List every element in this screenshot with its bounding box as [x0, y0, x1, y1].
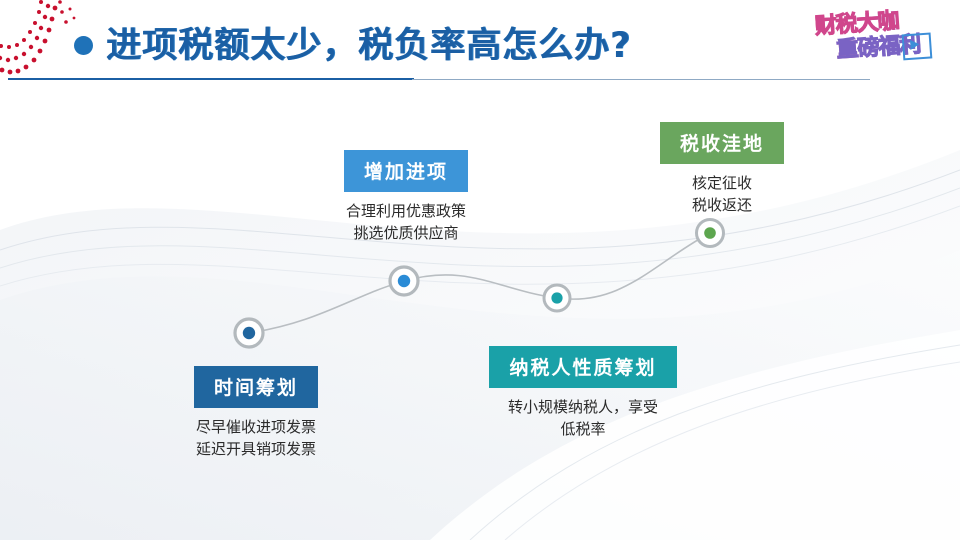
node-description-time-planning: 尽早催收进项发票 延迟开具销项发票 — [128, 417, 384, 461]
diagram-node-add-input[interactable]: 增加进项 合理利用优惠政策 挑选优质供应商 — [280, 150, 532, 245]
diagram-node-time-planning[interactable]: 时间筹划 尽早催收进项发票 延迟开具销项发票 — [128, 366, 384, 461]
node-marker-time-planning — [235, 319, 263, 347]
node-label-time-planning[interactable]: 时间筹划 — [194, 366, 318, 408]
node-description-add-input: 合理利用优惠政策 挑选优质供应商 — [280, 201, 532, 245]
node-description-tax-depression: 核定征收 税收返还 — [596, 173, 848, 217]
node-description-taxpayer-type: 转小规模纳税人，享受 低税率 — [448, 397, 718, 441]
slide-canvas: 进项税额太少，税负率高怎么办? 财税大咖 重磅福利 — [0, 0, 960, 540]
node-marker-add-input — [390, 267, 418, 295]
node-label-tax-depression[interactable]: 税收洼地 — [660, 122, 784, 164]
node-label-taxpayer-type[interactable]: 纳税人性质筹划 — [489, 346, 676, 388]
node-label-add-input[interactable]: 增加进项 — [344, 150, 468, 192]
node-marker-taxpayer-type — [544, 285, 570, 311]
diagram-node-tax-depression[interactable]: 税收洼地 核定征收 税收返还 — [596, 122, 848, 217]
node-marker-tax-depression — [697, 220, 724, 247]
diagram-node-taxpayer-type[interactable]: 纳税人性质筹划 转小规模纳税人，享受 低税率 — [448, 346, 718, 441]
